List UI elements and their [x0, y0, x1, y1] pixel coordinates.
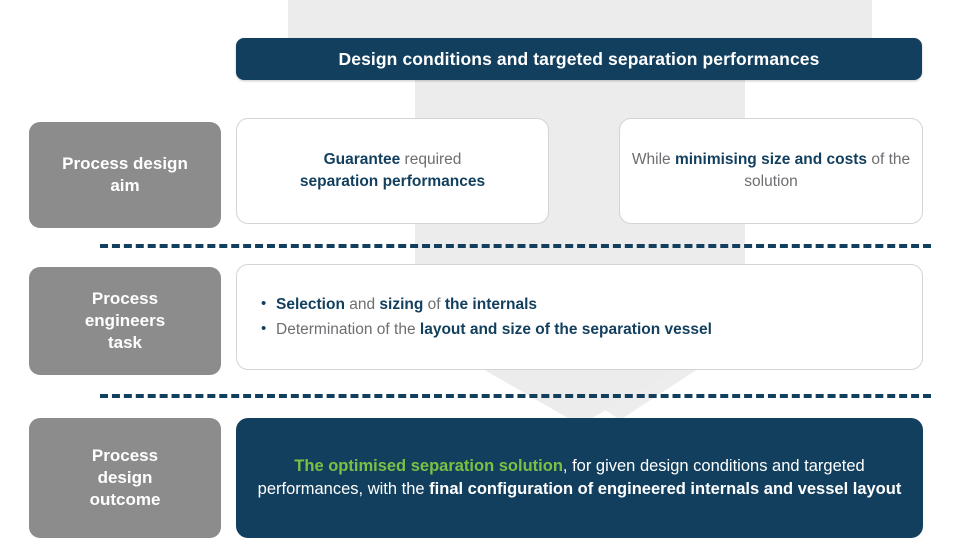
bullet1-bold-2: sizing: [379, 296, 423, 313]
list-item: Selection and sizing of the internals: [261, 292, 712, 317]
bullet1-regular-1: and: [345, 296, 379, 313]
separator-task-outcome: [100, 394, 931, 398]
outcome-text: The optimised separation solution, for g…: [254, 455, 905, 501]
outcome-bold: final configuration of engineered intern…: [429, 480, 901, 498]
guarantee-regular-1: required: [405, 151, 462, 168]
label-process-design-outcome-text: Process design outcome: [90, 445, 161, 510]
bullet1-regular-2: of: [423, 296, 445, 313]
label-process-design-aim: Process design aim: [29, 122, 221, 228]
list-item: Determination of the layout and size of …: [261, 317, 712, 342]
slide-canvas: Design conditions and targeted separatio…: [0, 0, 953, 554]
header-title: Design conditions and targeted separatio…: [339, 49, 820, 70]
label-process-design-aim-text: Process design aim: [62, 153, 188, 197]
label-process-engineers-task: Process engineers task: [29, 267, 221, 375]
guarantee-performances-text: Guarantee requiredseparation performance…: [300, 149, 485, 193]
bullet1-bold-3: the internals: [445, 296, 537, 313]
separator-aim-task: [100, 244, 931, 248]
outcome-card: The optimised separation solution, for g…: [236, 418, 923, 538]
minimise-regular-1: While: [632, 151, 675, 168]
minimise-size-costs-text: While minimising size and costs of the s…: [620, 149, 922, 193]
bullet2-regular-1: Determination of the: [276, 321, 420, 338]
bullet2-bold-1: layout and size of the separation vessel: [420, 321, 712, 338]
header-banner: Design conditions and targeted separatio…: [236, 38, 922, 80]
outcome-highlight: The optimised separation solution: [294, 457, 563, 475]
guarantee-bold-2: separation performances: [300, 173, 485, 190]
label-process-engineers-task-text: Process engineers task: [85, 288, 165, 353]
label-process-design-outcome: Process design outcome: [29, 418, 221, 538]
engineers-task-card: Selection and sizing of the internals De…: [236, 264, 923, 370]
minimise-size-costs-card: While minimising size and costs of the s…: [619, 118, 923, 224]
bullet1-bold-1: Selection: [276, 296, 345, 313]
guarantee-performances-card: Guarantee requiredseparation performance…: [236, 118, 549, 224]
minimise-bold-1: minimising size and costs: [675, 151, 871, 168]
guarantee-bold-1: Guarantee: [324, 151, 405, 168]
engineers-task-bullet-list: Selection and sizing of the internals De…: [261, 292, 712, 342]
